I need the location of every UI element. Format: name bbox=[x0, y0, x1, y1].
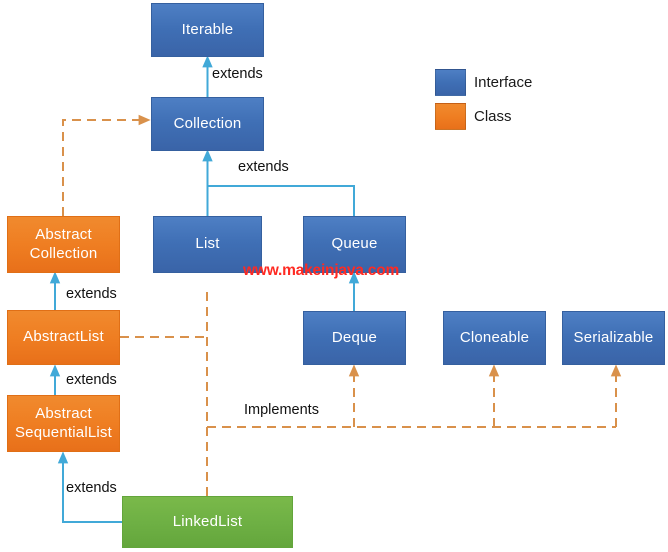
edge-label-extends-linkedlist-abstractseq: extends bbox=[66, 480, 117, 496]
node-label-collection: Collection bbox=[152, 115, 263, 133]
edge-label-extends-abstractseq-abstractlist: extends bbox=[66, 372, 117, 388]
node-linked-list[interactable]: LinkedList bbox=[122, 496, 293, 548]
node-deque[interactable]: Deque bbox=[303, 311, 406, 365]
node-label-serializable: Serializable bbox=[563, 329, 664, 347]
node-label-abstract-sequentiallist: Abstract SequentialList bbox=[8, 405, 119, 442]
node-label-abstract-list: AbstractList bbox=[8, 328, 119, 346]
node-label-cloneable: Cloneable bbox=[444, 329, 545, 347]
node-label-linked-list: LinkedList bbox=[123, 513, 292, 531]
edge-label-extends-list-queue-collection: extends bbox=[238, 159, 289, 175]
node-abstract-collection[interactable]: Abstract Collection bbox=[7, 216, 120, 273]
legend-label-interface: Interface bbox=[474, 74, 532, 91]
node-cloneable[interactable]: Cloneable bbox=[443, 311, 546, 365]
node-label-queue: Queue bbox=[304, 235, 405, 253]
edge-linkedlist-implements-bus bbox=[207, 288, 616, 496]
legend-swatch-class-icon bbox=[435, 103, 466, 130]
node-label-list: List bbox=[154, 235, 261, 253]
legend-label-class: Class bbox=[474, 108, 512, 125]
edge-label-extends-collection-iterable: extends bbox=[212, 66, 263, 82]
node-collection[interactable]: Collection bbox=[151, 97, 264, 151]
node-label-abstract-collection: Abstract Collection bbox=[8, 226, 119, 263]
node-abstract-sequentiallist[interactable]: Abstract SequentialList bbox=[7, 395, 120, 452]
legend-swatch-interface-icon bbox=[435, 69, 466, 96]
edge-label-extends-abstractlist-abstractcollection: extends bbox=[66, 286, 117, 302]
node-iterable[interactable]: Iterable bbox=[151, 3, 264, 57]
node-label-iterable: Iterable bbox=[152, 21, 263, 39]
node-serializable[interactable]: Serializable bbox=[562, 311, 665, 365]
legend-item-class: Class bbox=[435, 103, 512, 130]
edge-abstractcollection-implements-collection bbox=[63, 120, 145, 216]
watermark: www.makeinjava.com bbox=[243, 262, 399, 280]
edge-label-implements-linkedlist: Implements bbox=[244, 402, 319, 418]
node-label-deque: Deque bbox=[304, 329, 405, 347]
diagram-canvas: IterableCollectionAbstract CollectionLis… bbox=[0, 0, 668, 552]
legend-item-interface: Interface bbox=[435, 69, 532, 96]
node-abstract-list[interactable]: AbstractList bbox=[7, 310, 120, 365]
